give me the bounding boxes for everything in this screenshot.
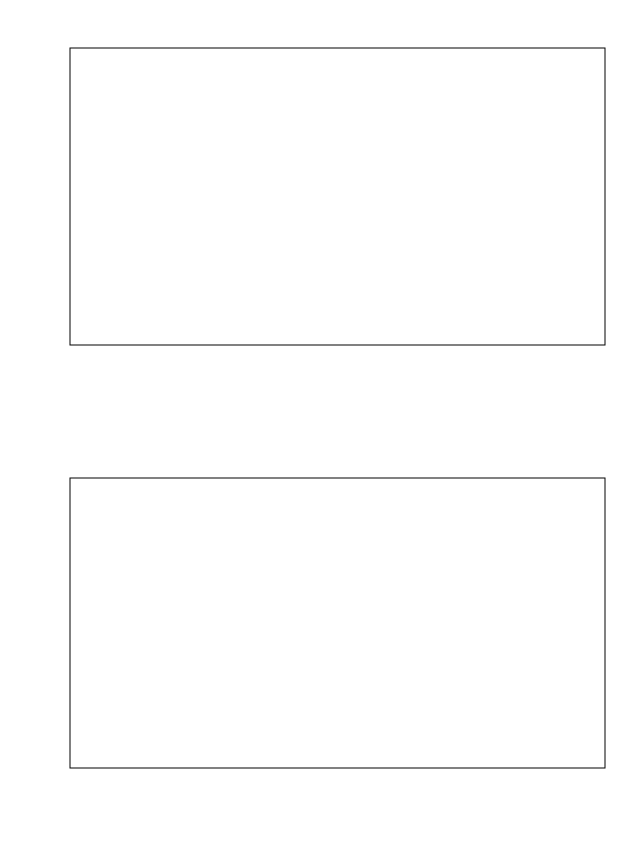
precipitation-figure [0, 0, 640, 850]
figure-background [0, 0, 640, 850]
